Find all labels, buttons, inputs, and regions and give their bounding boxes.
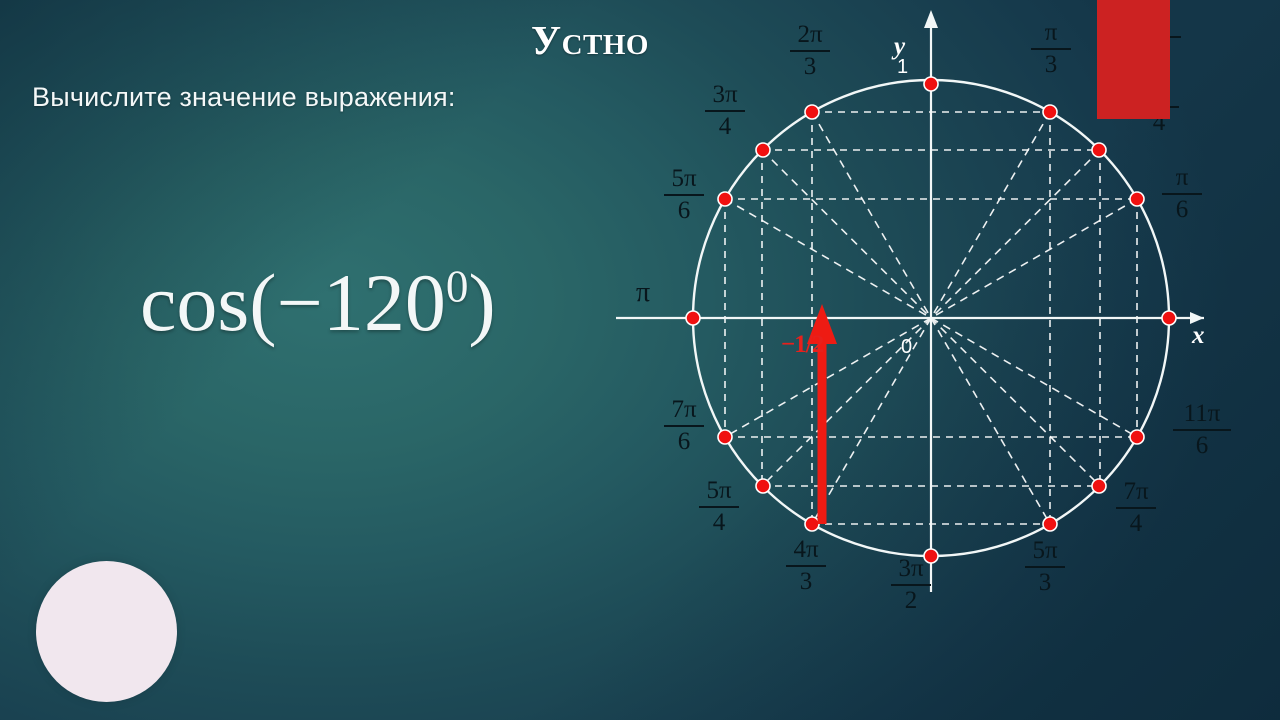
point-0 [1162, 311, 1176, 325]
angle-label-pi-over-3-num: π [1019, 20, 1083, 46]
angle-label-7pi-over-6-den: 6 [652, 429, 716, 455]
point-2pi-3 [805, 105, 819, 119]
angle-label-7pi-over-4: 7π 4 [1104, 479, 1168, 537]
angle-label-5pi-over-6-den: 6 [652, 198, 716, 224]
point-pi-2 [924, 77, 938, 91]
angle-label-5pi-over-3: 5π 3 [1013, 538, 1077, 596]
angle-label-pi-over-6: π 6 [1150, 165, 1214, 223]
fraction-bar [664, 194, 704, 196]
fraction-bar [1162, 193, 1202, 195]
math-expression-tail: ) [468, 257, 495, 348]
math-expression: cos(−1200) [140, 262, 496, 344]
point-5pi-6 [718, 192, 732, 206]
point-3pi-4 [756, 143, 770, 157]
fraction-bar [705, 110, 745, 112]
decorative-circle [36, 561, 177, 702]
point-pi-4 [1092, 143, 1106, 157]
point-pi-3 [1043, 105, 1057, 119]
angle-label-4pi-over-3-num: 4π [774, 537, 838, 563]
point-7pi-6 [718, 430, 732, 444]
red-highlight-rectangle [1097, 0, 1170, 119]
angle-label-7pi-over-4-den: 4 [1104, 511, 1168, 537]
fraction-bar [786, 565, 826, 567]
angle-label-5pi-over-3-num: 5π [1013, 538, 1077, 564]
math-expression-body: cos(−120 [140, 257, 446, 348]
angle-label-7pi-over-4-num: 7π [1104, 479, 1168, 505]
point-11pi-6 [1130, 430, 1144, 444]
angle-label-pi-over-3-den: 3 [1019, 52, 1083, 78]
angle-label-pi-over-3: π 3 [1019, 20, 1083, 78]
fraction-bar [1025, 566, 1065, 568]
point-pi-6 [1130, 192, 1144, 206]
angle-label-4pi-over-3: 4π 3 [774, 537, 838, 595]
angle-label-5pi-over-3-den: 3 [1013, 570, 1077, 596]
angle-label-5pi-over-6-num: 5π [652, 166, 716, 192]
unit-value-label: 1 [897, 56, 908, 79]
angle-label-3pi-over-4: 3π 4 [693, 82, 757, 140]
point-pi [686, 311, 700, 325]
instruction-text: Вычислите значение выражения: [32, 82, 456, 113]
point-4pi-3 [805, 517, 819, 531]
angle-label-3pi-over-4-num: 3π [693, 82, 757, 108]
slide-canvas: y x 1 0 π −1/2 π 2 π 3 π 4 π 6 2π [0, 0, 1280, 720]
angle-label-7pi-over-6: 7π 6 [652, 397, 716, 455]
fraction-bar [664, 425, 704, 427]
angle-label-3pi-over-2: 3π 2 [879, 556, 943, 614]
angle-label-pi-over-6-den: 6 [1150, 197, 1214, 223]
angle-label-5pi-over-4-den: 4 [687, 510, 751, 536]
angle-label-11pi-over-6-den: 6 [1161, 433, 1243, 459]
angle-label-2pi-over-3-den: 3 [778, 54, 842, 80]
fraction-bar [891, 584, 931, 586]
fraction-bar [790, 50, 830, 52]
fraction-bar [699, 506, 739, 508]
value-annotation: −1/2 [781, 331, 823, 359]
y-axis-arrowhead [924, 10, 938, 28]
angle-label-3pi-over-2-den: 2 [879, 588, 943, 614]
angle-label-4pi-over-3-den: 3 [774, 569, 838, 595]
angle-label-11pi-over-6-num: 11π [1161, 401, 1243, 427]
angle-label-2pi-over-3-num: 2π [778, 22, 842, 48]
degree-superscript: 0 [446, 262, 469, 312]
angle-label-pi-over-6-num: π [1150, 165, 1214, 191]
fraction-bar [1173, 429, 1231, 431]
point-5pi-4 [756, 479, 770, 493]
angle-label-7pi-over-6-num: 7π [652, 397, 716, 423]
angle-label-3pi-over-2-num: 3π [879, 556, 943, 582]
fraction-bar [1031, 48, 1071, 50]
angle-label-5pi-over-4-num: 5π [687, 478, 751, 504]
angle-label-3pi-over-4-den: 4 [693, 114, 757, 140]
angle-label-2pi-over-3: 2π 3 [778, 22, 842, 80]
angle-label-pi: π [636, 277, 650, 309]
page-title: Устно [430, 16, 750, 64]
x-axis-label: x [1192, 322, 1205, 350]
angle-label-5pi-over-6: 5π 6 [652, 166, 716, 224]
angle-label-5pi-over-4: 5π 4 [687, 478, 751, 536]
origin-label: 0 [901, 336, 912, 359]
fraction-bar [1116, 507, 1156, 509]
angle-label-11pi-over-6: 11π 6 [1161, 401, 1243, 459]
point-5pi-3 [1043, 517, 1057, 531]
